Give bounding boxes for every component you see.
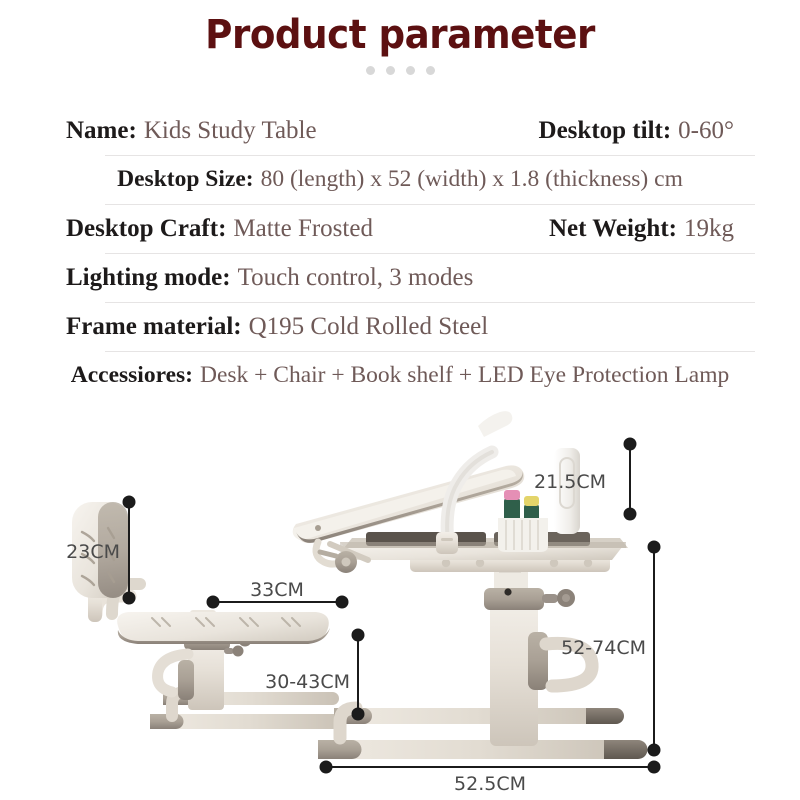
decorative-dot — [426, 66, 435, 75]
decorative-dot — [366, 66, 375, 75]
spec-row-desktop-craft: Desktop Craft: Matte Frosted Net Weight:… — [0, 204, 800, 253]
desk-base — [318, 708, 648, 759]
spec-label: Desktop Size: — [117, 166, 253, 193]
spec-cell-accessories: Accessiores: Desk + Chair + Book shelf +… — [71, 362, 730, 389]
spec-cell-desktop-craft: Desktop Craft: Matte Frosted — [66, 215, 373, 243]
spec-value: Q195 Cold Rolled Steel — [249, 313, 489, 341]
spec-cell-desktop-tilt: Desktop tilt: 0-60° — [539, 117, 734, 145]
dimension-label-desk-base-width: 52.5CM — [454, 773, 526, 795]
dimension-label-chair-back-height: 23CM — [66, 541, 120, 563]
spec-label: Net Weight: — [549, 215, 677, 243]
spec-row-frame-material: Frame material: Q195 Cold Rolled Steel — [0, 302, 800, 351]
spec-value: Matte Frosted — [233, 215, 373, 243]
dimension-label-shelf-height: 21.5CM — [534, 471, 606, 493]
spec-row-desktop-size: Desktop Size: 80 (length) x 52 (width) x… — [0, 155, 800, 204]
decorative-dot — [386, 66, 395, 75]
spec-label: Lighting mode: — [66, 264, 231, 292]
spec-row-name: Name: Kids Study Table Desktop tilt: 0-6… — [0, 106, 800, 155]
spec-value: 0-60° — [678, 117, 734, 145]
spec-row-lighting-mode: Lighting mode: Touch control, 3 modes — [0, 253, 800, 302]
spec-cell-net-weight: Net Weight: 19kg — [549, 215, 734, 243]
desk-height-knob — [542, 589, 575, 607]
spec-cell-lighting-mode: Lighting mode: Touch control, 3 modes — [66, 264, 473, 292]
spec-cell-name: Name: Kids Study Table — [66, 117, 317, 145]
spec-value: Desk + Chair + Book shelf + LED Eye Prot… — [200, 362, 729, 389]
spec-value: 19kg — [684, 215, 734, 243]
spec-cell-frame-material: Frame material: Q195 Cold Rolled Steel — [66, 313, 488, 341]
product-dimension-diagram: 21.5CM 23CM 33CM 30-43CM 52- — [0, 392, 800, 800]
spec-value: 80 (length) x 52 (width) x 1.8 (thicknes… — [261, 166, 683, 193]
spec-cell-desktop-size: Desktop Size: 80 (length) x 52 (width) x… — [117, 166, 683, 193]
decorative-dot — [406, 66, 415, 75]
dimension-label-desk-height-range: 52-74CM — [561, 637, 646, 659]
product-parameter-table: Name: Kids Study Table Desktop tilt: 0-6… — [0, 106, 800, 400]
spec-label: Accessiores: — [71, 362, 193, 389]
header-block: Product parameter — [0, 14, 800, 75]
page-title: Product parameter — [28, 14, 772, 56]
spec-value: Kids Study Table — [144, 117, 317, 145]
chair-seat — [117, 612, 330, 644]
desk-illustration — [293, 411, 648, 759]
dimension-label-seat-height-range: 30-43CM — [265, 671, 350, 693]
dimension-desk-base-width: 52.5CM — [320, 761, 660, 795]
spec-label: Desktop tilt: — [539, 117, 672, 145]
spec-label: Frame material: — [66, 313, 242, 341]
dimension-shelf-height: 21.5CM — [534, 438, 636, 520]
desk-surface-base — [340, 532, 628, 560]
pen-holder — [498, 490, 548, 552]
dimension-label-seat-width: 33CM — [250, 579, 304, 601]
title-dot-decoration — [0, 66, 800, 75]
spec-label: Desktop Craft: — [66, 215, 226, 243]
spec-label: Name: — [66, 117, 137, 145]
dimension-seat-width: 33CM — [207, 579, 348, 608]
spec-value: Touch control, 3 modes — [238, 264, 474, 292]
